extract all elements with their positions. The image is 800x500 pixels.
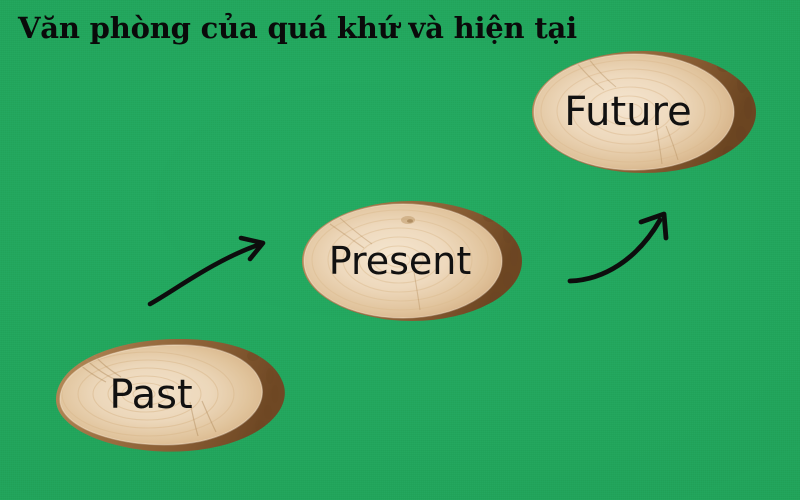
curved-arrow-icon-past-to-present: [145, 232, 275, 310]
wood-slice-future[interactable]: Future: [530, 48, 768, 176]
curved-arrow-icon-present-to-future: [565, 208, 677, 288]
wood-slice-past[interactable]: Past: [48, 336, 294, 454]
page-title: Văn phòng của quá khứ và hiện tại: [18, 12, 618, 45]
poster-canvas: Văn phòng của quá khứ và hiện tại: [0, 0, 800, 500]
wood-slice-present[interactable]: Present: [300, 198, 534, 324]
